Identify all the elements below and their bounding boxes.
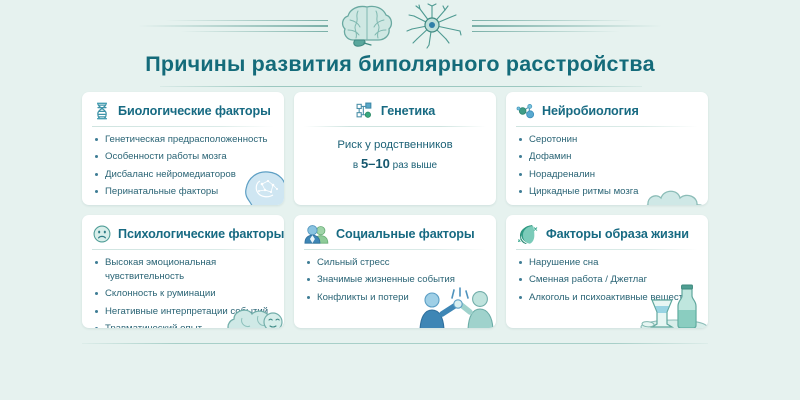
list-item: Нарушение сна: [516, 256, 698, 270]
card-header: Психологические факторы: [92, 223, 274, 245]
molecule-icon: [516, 101, 536, 121]
header-art: [0, 0, 800, 50]
list-item: Травматический опыт: [92, 322, 274, 328]
card-title: Генетика: [381, 104, 435, 118]
list-item: Особенности работы мозга: [92, 150, 274, 164]
list-item: Высокая эмоциональная чувствительность: [92, 256, 274, 284]
card-list: Серотонин Дофамин Норадреналин Циркадные…: [516, 133, 698, 199]
list-item: Конфликты и потери: [304, 291, 486, 305]
list-item: Перинатальные факторы: [92, 185, 274, 199]
list-item: Сильный стресс: [304, 256, 486, 270]
card-title: Психологические факторы: [118, 227, 284, 241]
pedigree-icon: [355, 101, 375, 121]
list-item: Значимые жизненные события: [304, 273, 486, 287]
card-title: Биологические факторы: [118, 104, 271, 118]
header-underline: [304, 249, 486, 250]
infographic-page: Причины развития биполярного расстройств…: [0, 0, 800, 400]
list-item: Серотонин: [516, 133, 698, 147]
list-item: Дисбаланс нейромедиаторов: [92, 168, 274, 182]
list-item: Норадреналин: [516, 168, 698, 182]
header-underline: [516, 249, 698, 250]
title-divider: [160, 86, 642, 87]
card-lifestyle[interactable]: Факторы образа жизни Нарушение сна Сменн…: [506, 215, 708, 328]
crescent-moon-icon: [516, 224, 540, 244]
list-item: Сменная работа / Джетлаг: [516, 273, 698, 287]
card-neurobiology[interactable]: Нейробиология Серотонин Дофамин Норадрен…: [506, 92, 708, 205]
header-underline: [92, 126, 274, 127]
card-title: Нейробиология: [542, 104, 639, 118]
stat-prefix: в: [353, 160, 361, 171]
card-list: Нарушение сна Сменная работа / Джетлаг А…: [516, 256, 698, 305]
card-psychological[interactable]: Психологические факторы Высокая эмоциона…: [82, 215, 284, 328]
list-item: Циркадные ритмы мозга: [516, 185, 698, 199]
card-list: Генетическая предрасположенность Особенн…: [92, 133, 274, 199]
card-header: Генетика: [304, 100, 486, 122]
card-header: Факторы образа жизни: [516, 223, 698, 245]
card-list: Высокая эмоциональная чувствительность С…: [92, 256, 274, 328]
card-header: Биологические факторы: [92, 100, 274, 122]
decorative-lines-left: [138, 20, 328, 33]
list-item: Склонность к руминации: [92, 287, 274, 301]
sad-face-icon: [92, 224, 112, 244]
page-title: Причины развития биполярного расстройств…: [0, 52, 800, 77]
cards-grid: Биологические факторы Генетическая предр…: [82, 92, 708, 328]
card-genetics[interactable]: Генетика Риск у родственников в 5–10 раз…: [294, 92, 496, 205]
two-people-icon: [304, 224, 330, 244]
list-item: Дофамин: [516, 150, 698, 164]
card-biological[interactable]: Биологические факторы Генетическая предр…: [82, 92, 284, 205]
card-list: Сильный стресс Значимые жизненные событи…: [304, 256, 486, 305]
header-underline: [304, 126, 486, 127]
card-title: Социальные факторы: [336, 227, 475, 241]
header-underline: [92, 249, 274, 250]
decorative-lines-right: [472, 20, 662, 33]
card-header: Нейробиология: [516, 100, 698, 122]
brain-icon: [338, 3, 396, 49]
bottom-divider: [82, 343, 708, 344]
stat-value: 5–10: [361, 156, 390, 171]
card-title: Факторы образа жизни: [546, 227, 689, 241]
stat-suffix: раз выше: [390, 160, 437, 171]
list-item: Негативные интерпретации событий: [92, 305, 274, 319]
card-social[interactable]: Социальные факторы Сильный стресс Значим…: [294, 215, 496, 328]
list-item: Алкоголь и психоактивные вещества: [516, 291, 698, 305]
header-underline: [516, 126, 698, 127]
dna-icon: [92, 101, 112, 121]
list-item: Генетическая предрасположенность: [92, 133, 274, 147]
stat-line-1: Риск у родственников: [304, 136, 486, 154]
stat-line-2: в 5–10 раз выше: [304, 154, 486, 175]
card-header: Социальные факторы: [304, 223, 486, 245]
genetics-stat: Риск у родственников в 5–10 раз выше: [304, 136, 486, 175]
neuron-icon: [402, 3, 462, 49]
